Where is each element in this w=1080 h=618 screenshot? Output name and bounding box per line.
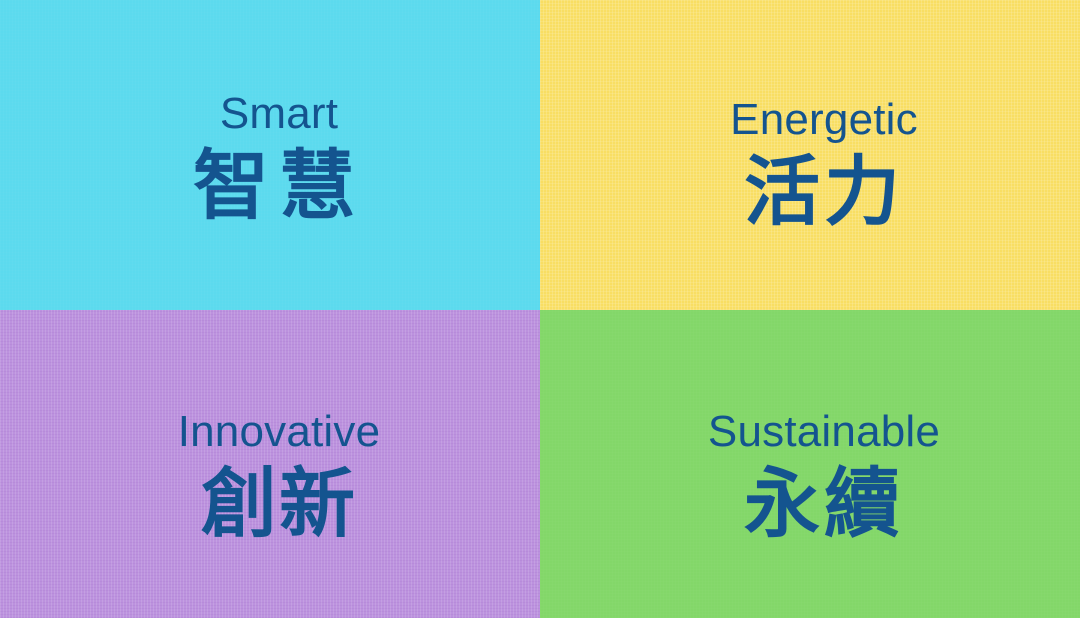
panel-innovative-text: Innovative 創新 <box>0 410 540 542</box>
panel-energetic-chinese-label: 活力 <box>568 154 1080 230</box>
panel-innovative-english-label: Innovative <box>18 410 540 454</box>
panel-sustainable-english-label: Sustainable <box>568 410 1080 454</box>
panel-smart-chinese-label: 智慧 <box>18 148 540 224</box>
panel-sustainable: Sustainable 永續 <box>540 310 1080 618</box>
panel-smart-text: Smart 智慧 <box>0 92 540 224</box>
panel-energetic-text: Energetic 活力 <box>540 98 1080 230</box>
panel-innovative: Innovative 創新 <box>0 310 540 618</box>
panel-sustainable-text: Sustainable 永續 <box>540 410 1080 542</box>
panel-energetic: Energetic 活力 <box>540 0 1080 310</box>
panel-sustainable-chinese-label: 永續 <box>568 466 1080 542</box>
panel-smart: Smart 智慧 <box>0 0 540 310</box>
panel-smart-english-label: Smart <box>18 92 540 136</box>
panel-energetic-english-label: Energetic <box>568 98 1080 142</box>
brand-values-grid: Smart 智慧 Energetic 活力 Innovative 創新 Sust… <box>0 0 1080 618</box>
panel-innovative-chinese-label: 創新 <box>18 466 540 542</box>
